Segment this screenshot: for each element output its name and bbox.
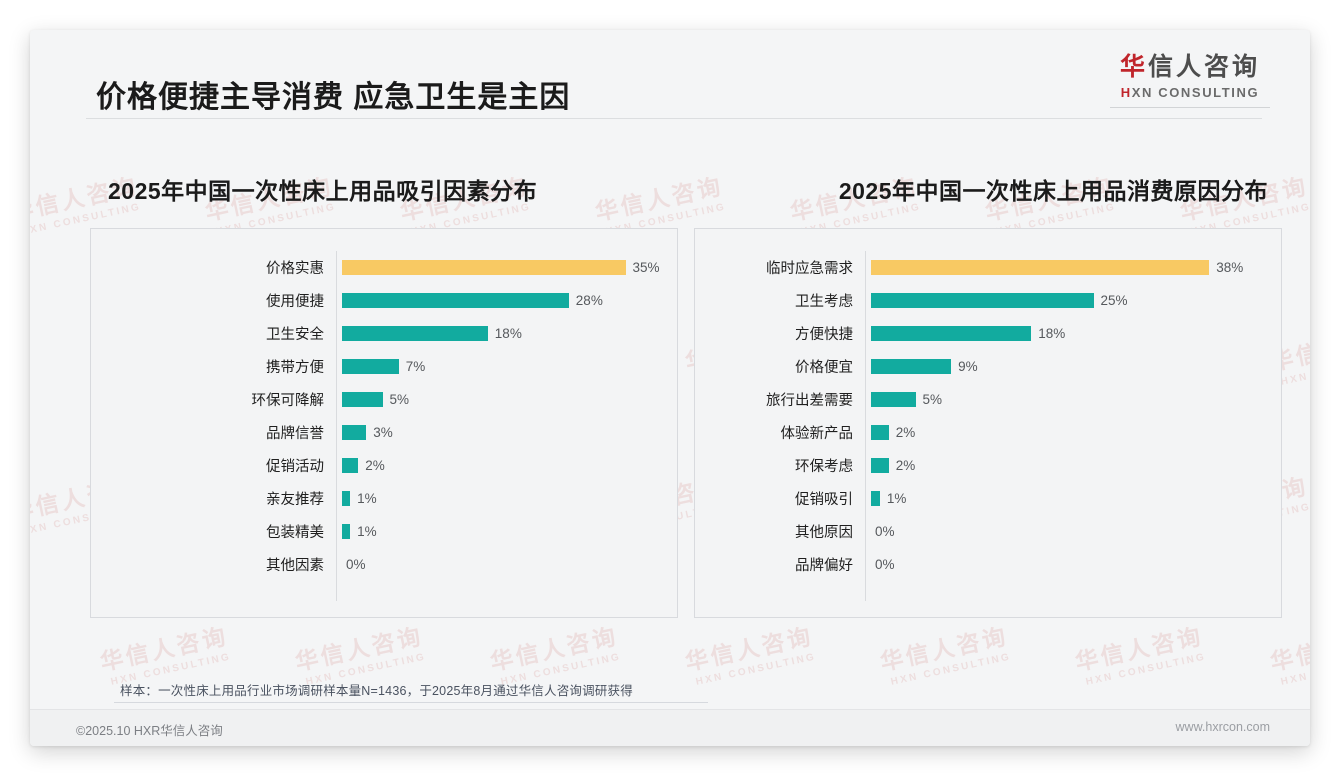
bar-rows-right: 临时应急需求38%卫生考虑25%方便快捷18%价格便宜9%旅行出差需要5%体验新… bbox=[705, 251, 1271, 601]
bar-track: 18% bbox=[336, 326, 667, 341]
bar-category-label: 使用便捷 bbox=[101, 290, 336, 311]
bar-row: 亲友推荐1% bbox=[101, 482, 667, 515]
bar-fill bbox=[342, 491, 350, 506]
company-logo: 华信人咨询 HXN CONSULTING bbox=[1110, 54, 1270, 108]
chart-title-left: 2025年中国一次性床上用品吸引因素分布 bbox=[90, 172, 678, 206]
bar-value-label: 5% bbox=[390, 392, 410, 407]
bar-fill bbox=[871, 359, 951, 374]
bar-fill bbox=[342, 392, 383, 407]
bar-row: 携带方便7% bbox=[101, 350, 667, 383]
bar-track: 3% bbox=[336, 425, 667, 440]
bar-category-label: 方便快捷 bbox=[705, 323, 865, 344]
bar-fill bbox=[342, 425, 366, 440]
bar-value-label: 28% bbox=[576, 293, 603, 308]
bar-row: 环保考虑2% bbox=[705, 449, 1271, 482]
charts-region: 2025年中国一次性床上用品吸引因素分布 价格实惠35%使用便捷28%卫生安全1… bbox=[30, 122, 1310, 746]
bar-fill bbox=[871, 425, 889, 440]
bar-fill bbox=[342, 260, 626, 275]
bar-value-label: 9% bbox=[958, 359, 978, 374]
bar-category-label: 其他因素 bbox=[101, 554, 336, 575]
bar-value-label: 38% bbox=[1216, 260, 1243, 275]
slide-header: 价格便捷主导消费 应急卫生是主因 华信人咨询 HXN CONSULTING bbox=[30, 30, 1310, 122]
bar-category-label: 其他原因 bbox=[705, 521, 865, 542]
bar-row: 临时应急需求38% bbox=[705, 251, 1271, 284]
bar-row: 环保可降解5% bbox=[101, 383, 667, 416]
footnote-divider bbox=[114, 702, 708, 703]
bar-row: 品牌信誉3% bbox=[101, 416, 667, 449]
bar-category-label: 卫生考虑 bbox=[705, 290, 865, 311]
chart-panel-right: 临时应急需求38%卫生考虑25%方便快捷18%价格便宜9%旅行出差需要5%体验新… bbox=[694, 228, 1282, 618]
logo-cn-accent-char: 华 bbox=[1120, 53, 1148, 81]
bar-track: 2% bbox=[865, 458, 1271, 473]
bar-fill bbox=[871, 326, 1031, 341]
bar-value-label: 18% bbox=[495, 326, 522, 341]
bar-track: 2% bbox=[865, 425, 1271, 440]
bar-track: 28% bbox=[336, 293, 667, 308]
bar-track: 9% bbox=[865, 359, 1271, 374]
bar-row: 方便快捷18% bbox=[705, 317, 1271, 350]
bar-category-label: 体验新产品 bbox=[705, 422, 865, 443]
bar-category-label: 环保可降解 bbox=[101, 389, 336, 410]
bar-category-label: 促销活动 bbox=[101, 455, 336, 476]
bar-value-label: 0% bbox=[875, 524, 895, 539]
bar-track: 0% bbox=[865, 557, 1271, 572]
bar-value-label: 1% bbox=[357, 524, 377, 539]
bar-fill bbox=[342, 524, 350, 539]
bar-category-label: 旅行出差需要 bbox=[705, 389, 865, 410]
bar-track: 1% bbox=[865, 491, 1271, 506]
footer-website[interactable]: www.hxrcon.com bbox=[1176, 720, 1270, 734]
bar-fill bbox=[871, 491, 880, 506]
bar-fill bbox=[871, 260, 1209, 275]
bar-row: 卫生安全18% bbox=[101, 317, 667, 350]
footer-copyright: ©2025.10 HXR华信人咨询 bbox=[76, 720, 223, 739]
bar-track: 1% bbox=[336, 491, 667, 506]
bar-row: 促销活动2% bbox=[101, 449, 667, 482]
page-title: 价格便捷主导消费 应急卫生是主因 bbox=[96, 72, 570, 116]
bar-row: 促销吸引1% bbox=[705, 482, 1271, 515]
bar-row: 旅行出差需要5% bbox=[705, 383, 1271, 416]
bar-category-label: 价格便宜 bbox=[705, 356, 865, 377]
bar-value-label: 2% bbox=[896, 458, 916, 473]
bar-category-label: 价格实惠 bbox=[101, 257, 336, 278]
bar-row: 体验新产品2% bbox=[705, 416, 1271, 449]
slide-footer: ©2025.10 HXR华信人咨询 www.hxrcon.com bbox=[30, 709, 1310, 746]
chart-block-attraction-factors: 2025年中国一次性床上用品吸引因素分布 价格实惠35%使用便捷28%卫生安全1… bbox=[90, 172, 678, 618]
bar-value-label: 5% bbox=[923, 392, 943, 407]
bar-row: 其他因素0% bbox=[101, 548, 667, 581]
bar-value-label: 1% bbox=[357, 491, 377, 506]
bar-category-label: 品牌信誉 bbox=[101, 422, 336, 443]
bar-category-label: 携带方便 bbox=[101, 356, 336, 377]
bar-row: 使用便捷28% bbox=[101, 284, 667, 317]
bar-category-label: 品牌偏好 bbox=[705, 554, 865, 575]
header-divider bbox=[86, 118, 1262, 119]
bar-track: 5% bbox=[336, 392, 667, 407]
bar-category-label: 临时应急需求 bbox=[705, 257, 865, 278]
slide-card: 华信人咨询HXN CONSULTING华信人咨询HXN CONSULTING华信… bbox=[30, 30, 1310, 746]
bar-value-label: 7% bbox=[406, 359, 426, 374]
bar-value-label: 3% bbox=[373, 425, 393, 440]
logo-en-rest: XN CONSULTING bbox=[1132, 85, 1259, 100]
bar-track: 0% bbox=[865, 524, 1271, 539]
bar-value-label: 0% bbox=[346, 557, 366, 572]
bar-value-label: 35% bbox=[633, 260, 660, 275]
bar-fill bbox=[342, 359, 399, 374]
bar-value-label: 2% bbox=[365, 458, 385, 473]
bar-track: 0% bbox=[336, 557, 667, 572]
logo-en-accent-char: H bbox=[1121, 85, 1132, 100]
bar-value-label: 2% bbox=[896, 425, 916, 440]
chart-block-consumption-reasons: 2025年中国一次性床上用品消费原因分布 临时应急需求38%卫生考虑25%方便快… bbox=[694, 172, 1282, 618]
bar-category-label: 卫生安全 bbox=[101, 323, 336, 344]
bar-track: 38% bbox=[865, 260, 1271, 275]
bar-category-label: 环保考虑 bbox=[705, 455, 865, 476]
bar-fill bbox=[871, 392, 916, 407]
bar-value-label: 0% bbox=[875, 557, 895, 572]
bar-row: 价格实惠35% bbox=[101, 251, 667, 284]
logo-english-text: HXN CONSULTING bbox=[1110, 85, 1270, 100]
bar-fill bbox=[871, 293, 1094, 308]
bar-category-label: 促销吸引 bbox=[705, 488, 865, 509]
bar-track: 25% bbox=[865, 293, 1271, 308]
logo-cn-rest: 信人咨询 bbox=[1148, 53, 1260, 81]
bar-fill bbox=[871, 458, 889, 473]
bar-track: 5% bbox=[865, 392, 1271, 407]
bar-row: 价格便宜9% bbox=[705, 350, 1271, 383]
bar-row: 品牌偏好0% bbox=[705, 548, 1271, 581]
logo-underline bbox=[1110, 107, 1270, 108]
bar-row: 包装精美1% bbox=[101, 515, 667, 548]
bar-rows-left: 价格实惠35%使用便捷28%卫生安全18%携带方便7%环保可降解5%品牌信誉3%… bbox=[101, 251, 667, 601]
bar-row: 其他原因0% bbox=[705, 515, 1271, 548]
bar-fill bbox=[342, 293, 569, 308]
bar-value-label: 25% bbox=[1101, 293, 1128, 308]
logo-chinese-text: 华信人咨询 bbox=[1110, 54, 1270, 82]
bar-fill bbox=[342, 326, 488, 341]
bar-track: 35% bbox=[336, 260, 667, 275]
bar-row: 卫生考虑25% bbox=[705, 284, 1271, 317]
bar-track: 2% bbox=[336, 458, 667, 473]
bar-track: 18% bbox=[865, 326, 1271, 341]
sample-footnote: 样本：一次性床上用品行业市场调研样本量N=1436，于2025年8月通过华信人咨… bbox=[120, 680, 633, 699]
bar-fill bbox=[342, 458, 358, 473]
bar-category-label: 包装精美 bbox=[101, 521, 336, 542]
chart-panel-left: 价格实惠35%使用便捷28%卫生安全18%携带方便7%环保可降解5%品牌信誉3%… bbox=[90, 228, 678, 618]
bar-category-label: 亲友推荐 bbox=[101, 488, 336, 509]
bar-value-label: 1% bbox=[887, 491, 907, 506]
bar-track: 1% bbox=[336, 524, 667, 539]
bar-track: 7% bbox=[336, 359, 667, 374]
chart-title-right: 2025年中国一次性床上用品消费原因分布 bbox=[694, 172, 1282, 206]
bar-value-label: 18% bbox=[1038, 326, 1065, 341]
